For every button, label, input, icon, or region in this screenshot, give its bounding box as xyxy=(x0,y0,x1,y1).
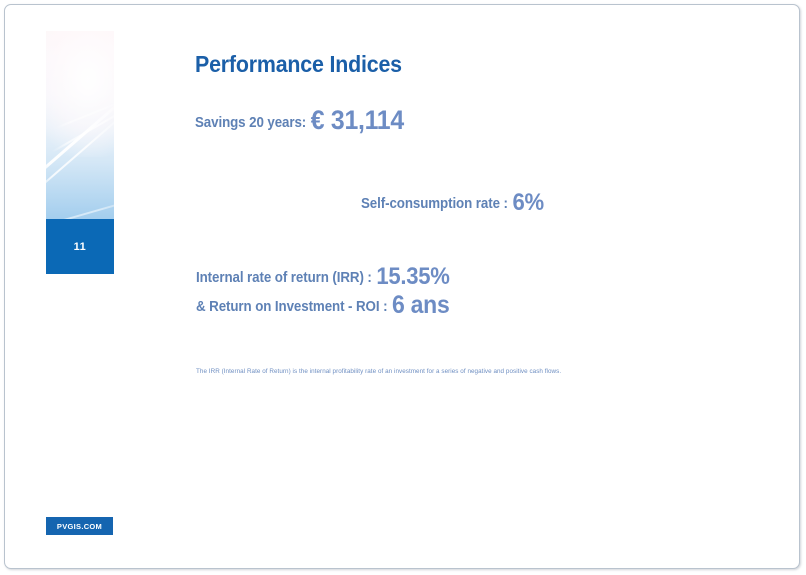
slide-frame: 11 Performance Indices Savings 20 years:… xyxy=(4,4,800,569)
footnote-text: The IRR (Internal Rate of Return) is the… xyxy=(196,368,561,375)
metric-value: € 31,114 xyxy=(311,105,404,135)
metric-label: Savings 20 years: xyxy=(195,115,306,131)
page-title: Performance Indices xyxy=(195,51,402,78)
footer-logo-label: PVGIS.COM xyxy=(57,522,102,531)
footer-logo[interactable]: PVGIS.COM xyxy=(46,517,113,535)
metric-label: Self-consumption rate : xyxy=(361,196,508,212)
metric-value: 6 ans xyxy=(392,291,449,319)
metric-value: 6% xyxy=(512,189,543,216)
metric-label: & Return on Investment - ROI : xyxy=(196,299,387,315)
slide-content: Performance Indices Savings 20 years:€ 3… xyxy=(5,5,799,568)
metric-internal-rate-of-return: Internal rate of return (IRR) :15.35% xyxy=(196,263,450,291)
metric-savings-20-years: Savings 20 years:€ 31,114 xyxy=(195,105,404,136)
metric-return-on-investment: & Return on Investment - ROI :6 ans xyxy=(196,291,449,320)
metric-label: Internal rate of return (IRR) : xyxy=(196,270,372,286)
metric-self-consumption-rate: Self-consumption rate :6% xyxy=(361,189,544,217)
metric-value: 15.35% xyxy=(376,263,449,290)
